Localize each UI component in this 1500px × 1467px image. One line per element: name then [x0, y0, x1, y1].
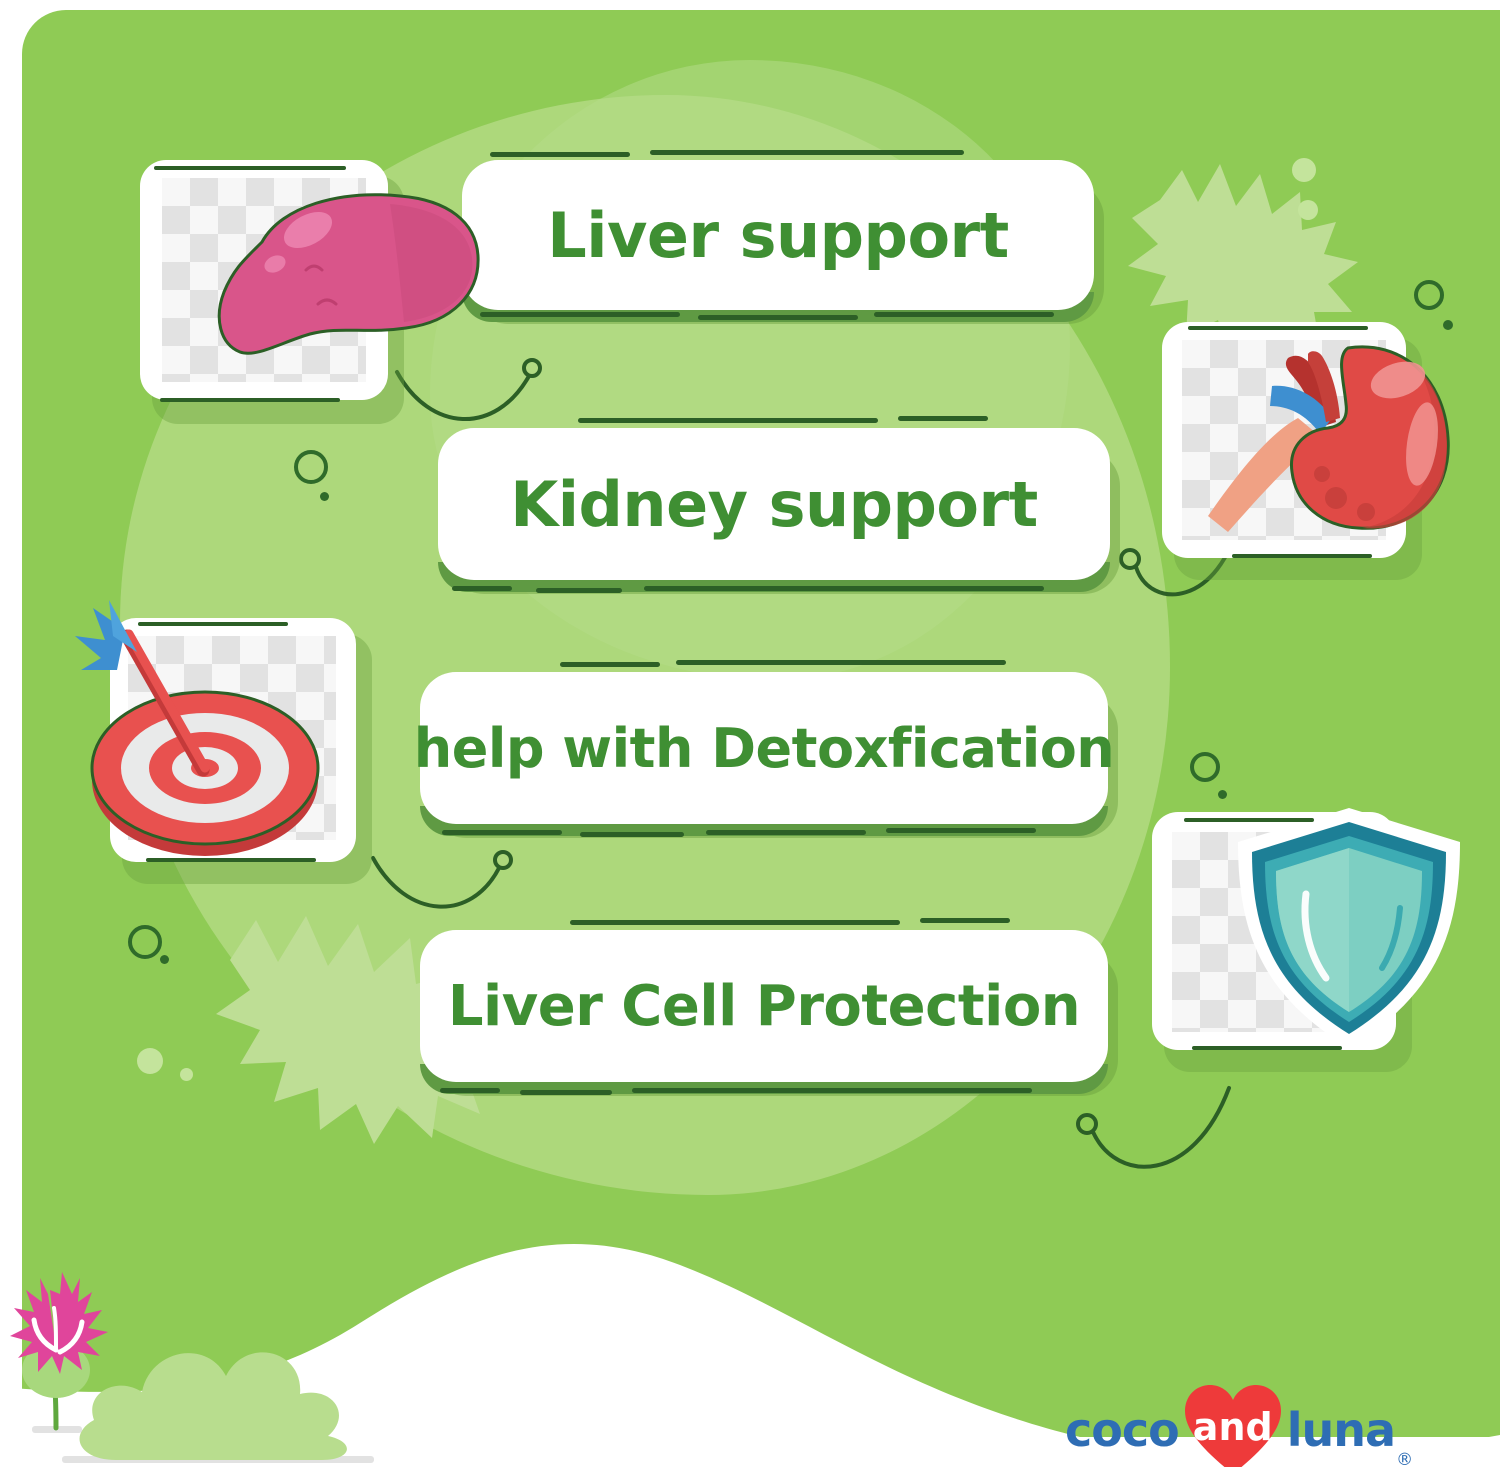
icon-tile-kidney: [1162, 322, 1432, 580]
card-sketch-line-top-a: [578, 418, 878, 423]
benefit-card-liver-cell-protection[interactable]: Liver Cell Protection: [420, 930, 1108, 1082]
card-sketch-line-bottom-c: [632, 1088, 1032, 1093]
tile-sketch-line-top: [138, 622, 288, 626]
logo-text-luna: luna: [1287, 1403, 1395, 1457]
decor-ring-3: [1414, 280, 1444, 310]
card-sketch-line-top-b: [676, 660, 1006, 665]
benefit-card-detoxfication[interactable]: help with Detoxfication: [420, 672, 1108, 824]
benefit-label: Kidney support: [510, 468, 1037, 541]
logo-heart: and: [1181, 1382, 1285, 1467]
decor-dot-2: [160, 955, 169, 964]
connector-squiggle-3: [355, 832, 545, 942]
tile-sketch-line-bottom: [146, 858, 316, 862]
card-sketch-line-top-a: [560, 662, 660, 667]
promo-graphic: Liver support: [0, 0, 1500, 1467]
card-sketch-line-bottom-a: [442, 830, 562, 835]
card-sketch-line-top-b: [920, 918, 1010, 923]
decor-ring-1: [294, 450, 328, 484]
decor-bubble-2: [1298, 200, 1318, 220]
benefit-label: help with Detoxfication: [414, 717, 1115, 780]
card-sketch-line-bottom-a: [440, 1088, 500, 1093]
registered-mark: ®: [1396, 1450, 1413, 1467]
tile-sketch-line-top: [154, 166, 346, 170]
card-sketch-line-bottom-b: [536, 588, 622, 593]
icon-tile-liver: [140, 160, 410, 420]
card-sketch-line-bottom-d: [886, 828, 1036, 833]
tile-sketch-line-top: [1188, 326, 1368, 330]
tile-sketch-line-bottom: [160, 398, 340, 402]
decor-bubble-3: [137, 1048, 163, 1074]
decor-dot-1: [320, 492, 329, 501]
card-sketch-line-bottom-a: [480, 312, 680, 317]
milk-thistle-flower: [4, 1260, 134, 1450]
card-surface: Liver support: [462, 160, 1094, 310]
benefit-card-kidney-support[interactable]: Kidney support: [438, 428, 1110, 580]
decor-dot-4: [1218, 790, 1227, 799]
tile-sketch-line-bottom: [1232, 554, 1372, 558]
card-sketch-line-bottom-c: [644, 586, 1044, 591]
card-sketch-line-top-b: [650, 150, 964, 155]
card-sketch-line-top-a: [490, 152, 630, 157]
card-sketch-line-bottom-b: [580, 832, 684, 837]
card-surface: Kidney support: [438, 428, 1110, 580]
card-sketch-line-bottom-a: [452, 586, 512, 591]
card-surface: help with Detoxfication: [420, 672, 1108, 824]
tile-sketch-line-top: [1184, 818, 1314, 822]
decor-bubble-1: [1292, 158, 1316, 182]
card-sketch-line-top-a: [570, 920, 900, 925]
benefit-label: Liver Cell Protection: [448, 974, 1080, 1039]
card-sketch-line-top-b: [898, 416, 988, 421]
card-sketch-line-bottom-c: [874, 312, 1054, 317]
card-sketch-line-bottom-c: [706, 830, 866, 835]
decor-bubble-4: [180, 1068, 193, 1081]
decor-ring-4: [1190, 752, 1220, 782]
logo-text-and: and: [1193, 1405, 1273, 1449]
tile-sketch-line-bottom: [1192, 1046, 1342, 1050]
liver-icon: [190, 182, 480, 382]
benefit-card-liver-support[interactable]: Liver support: [462, 160, 1094, 310]
card-sketch-line-bottom-b: [520, 1090, 612, 1095]
logo-text-coco: coco: [1065, 1403, 1179, 1457]
decor-ring-2: [128, 925, 162, 959]
benefit-label: Liver support: [547, 199, 1009, 272]
shield-icon: [1224, 802, 1474, 1062]
brand-logo[interactable]: coco and luna ®: [1065, 1382, 1413, 1467]
kidney-icon: [1176, 326, 1466, 556]
card-surface: Liver Cell Protection: [420, 930, 1108, 1082]
card-sketch-line-bottom-b: [698, 315, 858, 320]
icon-tile-target: [110, 618, 380, 888]
icon-tile-shield: [1152, 812, 1432, 1082]
